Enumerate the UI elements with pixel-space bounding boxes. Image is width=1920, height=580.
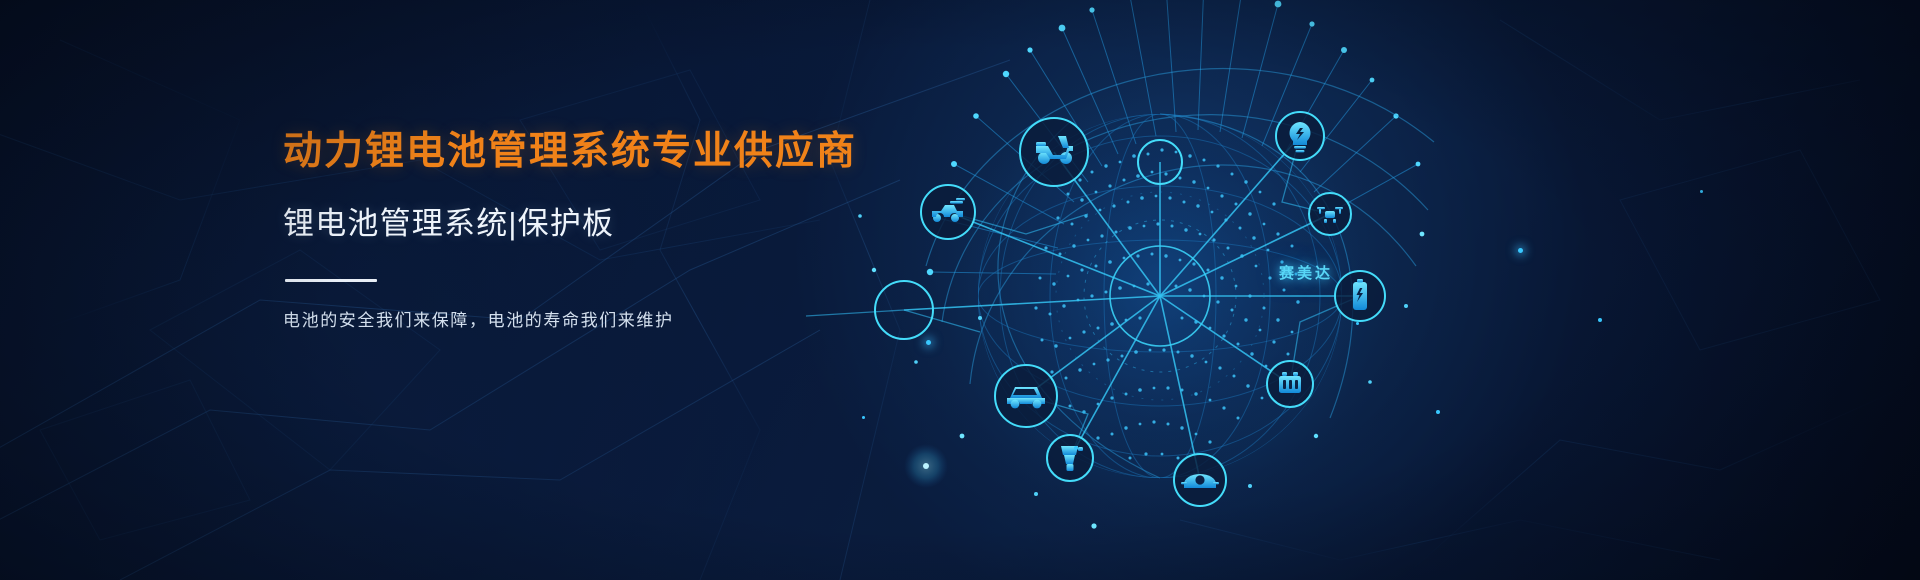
spark-dot: [1518, 248, 1523, 253]
spark-dot: [1074, 446, 1078, 450]
node-scooter-icon[interactable]: [1020, 118, 1088, 186]
node-power-bank-icon[interactable]: [1335, 271, 1385, 321]
node-car-icon[interactable]: [995, 365, 1057, 427]
node-light-bulb-icon[interactable]: [1276, 112, 1324, 160]
spark-dot: [1700, 190, 1703, 193]
iot-network-globe: 赛美达: [830, 0, 1490, 580]
node-power-tool-icon[interactable]: [1047, 435, 1093, 481]
spark-dot: [862, 416, 865, 419]
hero-banner: 动力锂电池管理系统专业供应商 锂电池管理系统|保护板 电池的安全我们来保障，电池…: [0, 0, 1920, 580]
node-forklift-icon[interactable]: [921, 185, 975, 239]
spark-dot: [926, 340, 931, 345]
spark-dot: [1356, 322, 1359, 325]
node-robot-vacuum-icon[interactable]: [1174, 454, 1226, 506]
globe-svg: [830, 0, 1490, 580]
spark-dot: [1436, 410, 1440, 414]
spark-dot: [1598, 318, 1602, 322]
node-battery-pack-icon[interactable]: [1267, 361, 1313, 407]
divider: [285, 279, 377, 282]
node-drone-icon[interactable]: [1309, 193, 1351, 235]
